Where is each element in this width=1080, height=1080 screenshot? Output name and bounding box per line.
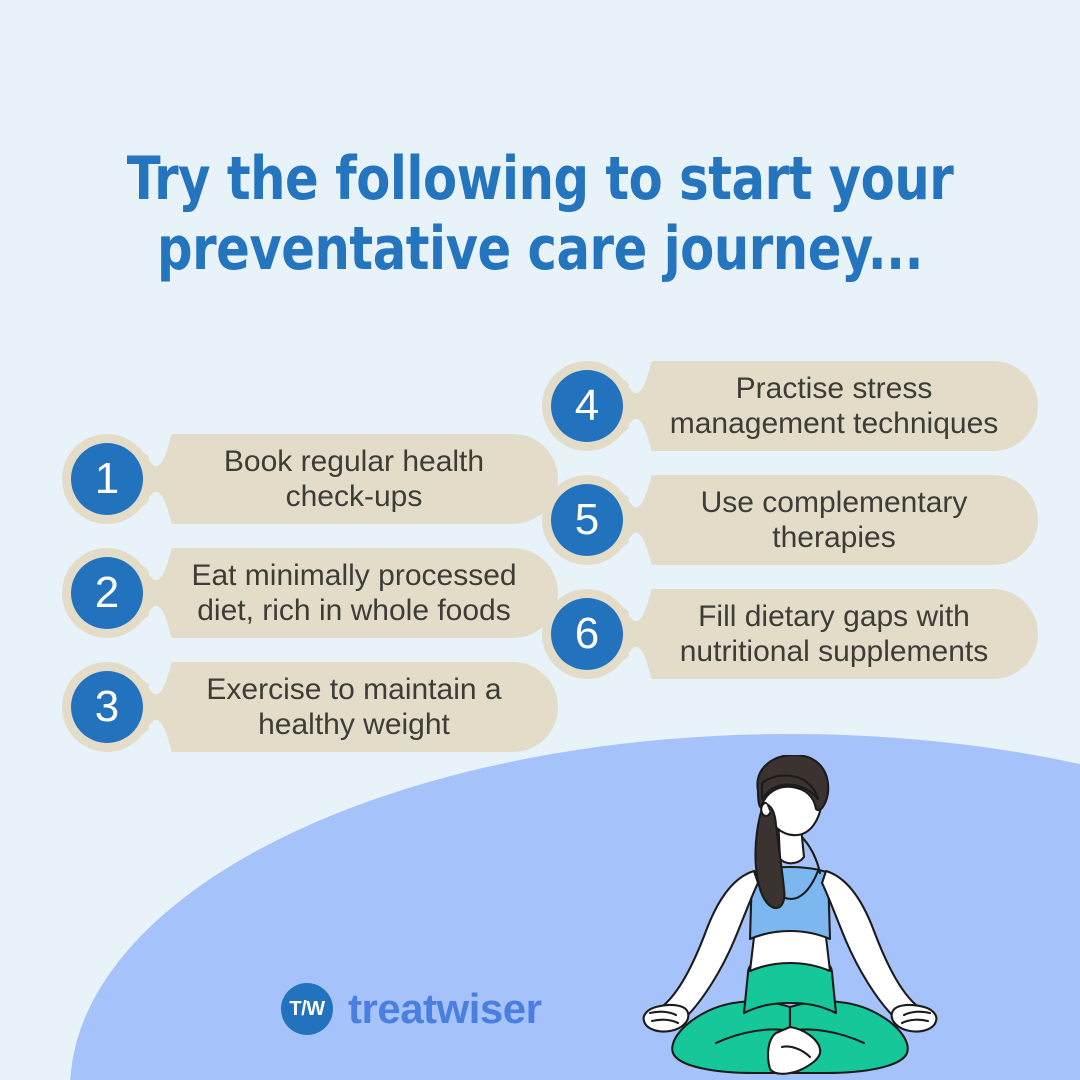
step-text-label: Exercise to maintain a healthy weight [164,662,544,752]
step-text-label: Fill dietary gaps with nutritional suppl… [644,589,1024,679]
woman-meditating-illustration [630,755,950,1080]
step-number-label: 5 [550,498,624,542]
list-item-1: 1Book regular health check-ups [62,434,558,530]
infographic-poster: Try the following to start your preventa… [0,0,1080,1080]
list-item-3: 3Exercise to maintain a healthy weight [62,662,558,758]
step-number-label: 2 [70,571,144,615]
list-item-4: 4Practise stress management techniques [542,361,1038,457]
logo-mark-icon: T/W [281,983,333,1035]
step-text-label: Eat minimally processed diet, rich in wh… [164,548,544,638]
logo-wordmark: treatwiser [348,988,541,1030]
step-number-label: 3 [70,685,144,729]
logo-mark-label: T/W [289,998,324,1021]
step-text-label: Book regular health check-ups [164,434,544,524]
step-number-label: 6 [550,612,624,656]
list-item-2: 2Eat minimally processed diet, rich in w… [62,548,558,644]
step-text-label: Use complementary therapies [644,475,1024,565]
step-number-label: 4 [550,384,624,428]
step-number-label: 1 [70,457,144,501]
list-item-6: 6Fill dietary gaps with nutritional supp… [542,589,1038,685]
list-item-5: 5Use complementary therapies [542,475,1038,571]
brand-logo[interactable]: T/W treatwiser [281,983,541,1035]
step-text-label: Practise stress management techniques [644,361,1024,451]
